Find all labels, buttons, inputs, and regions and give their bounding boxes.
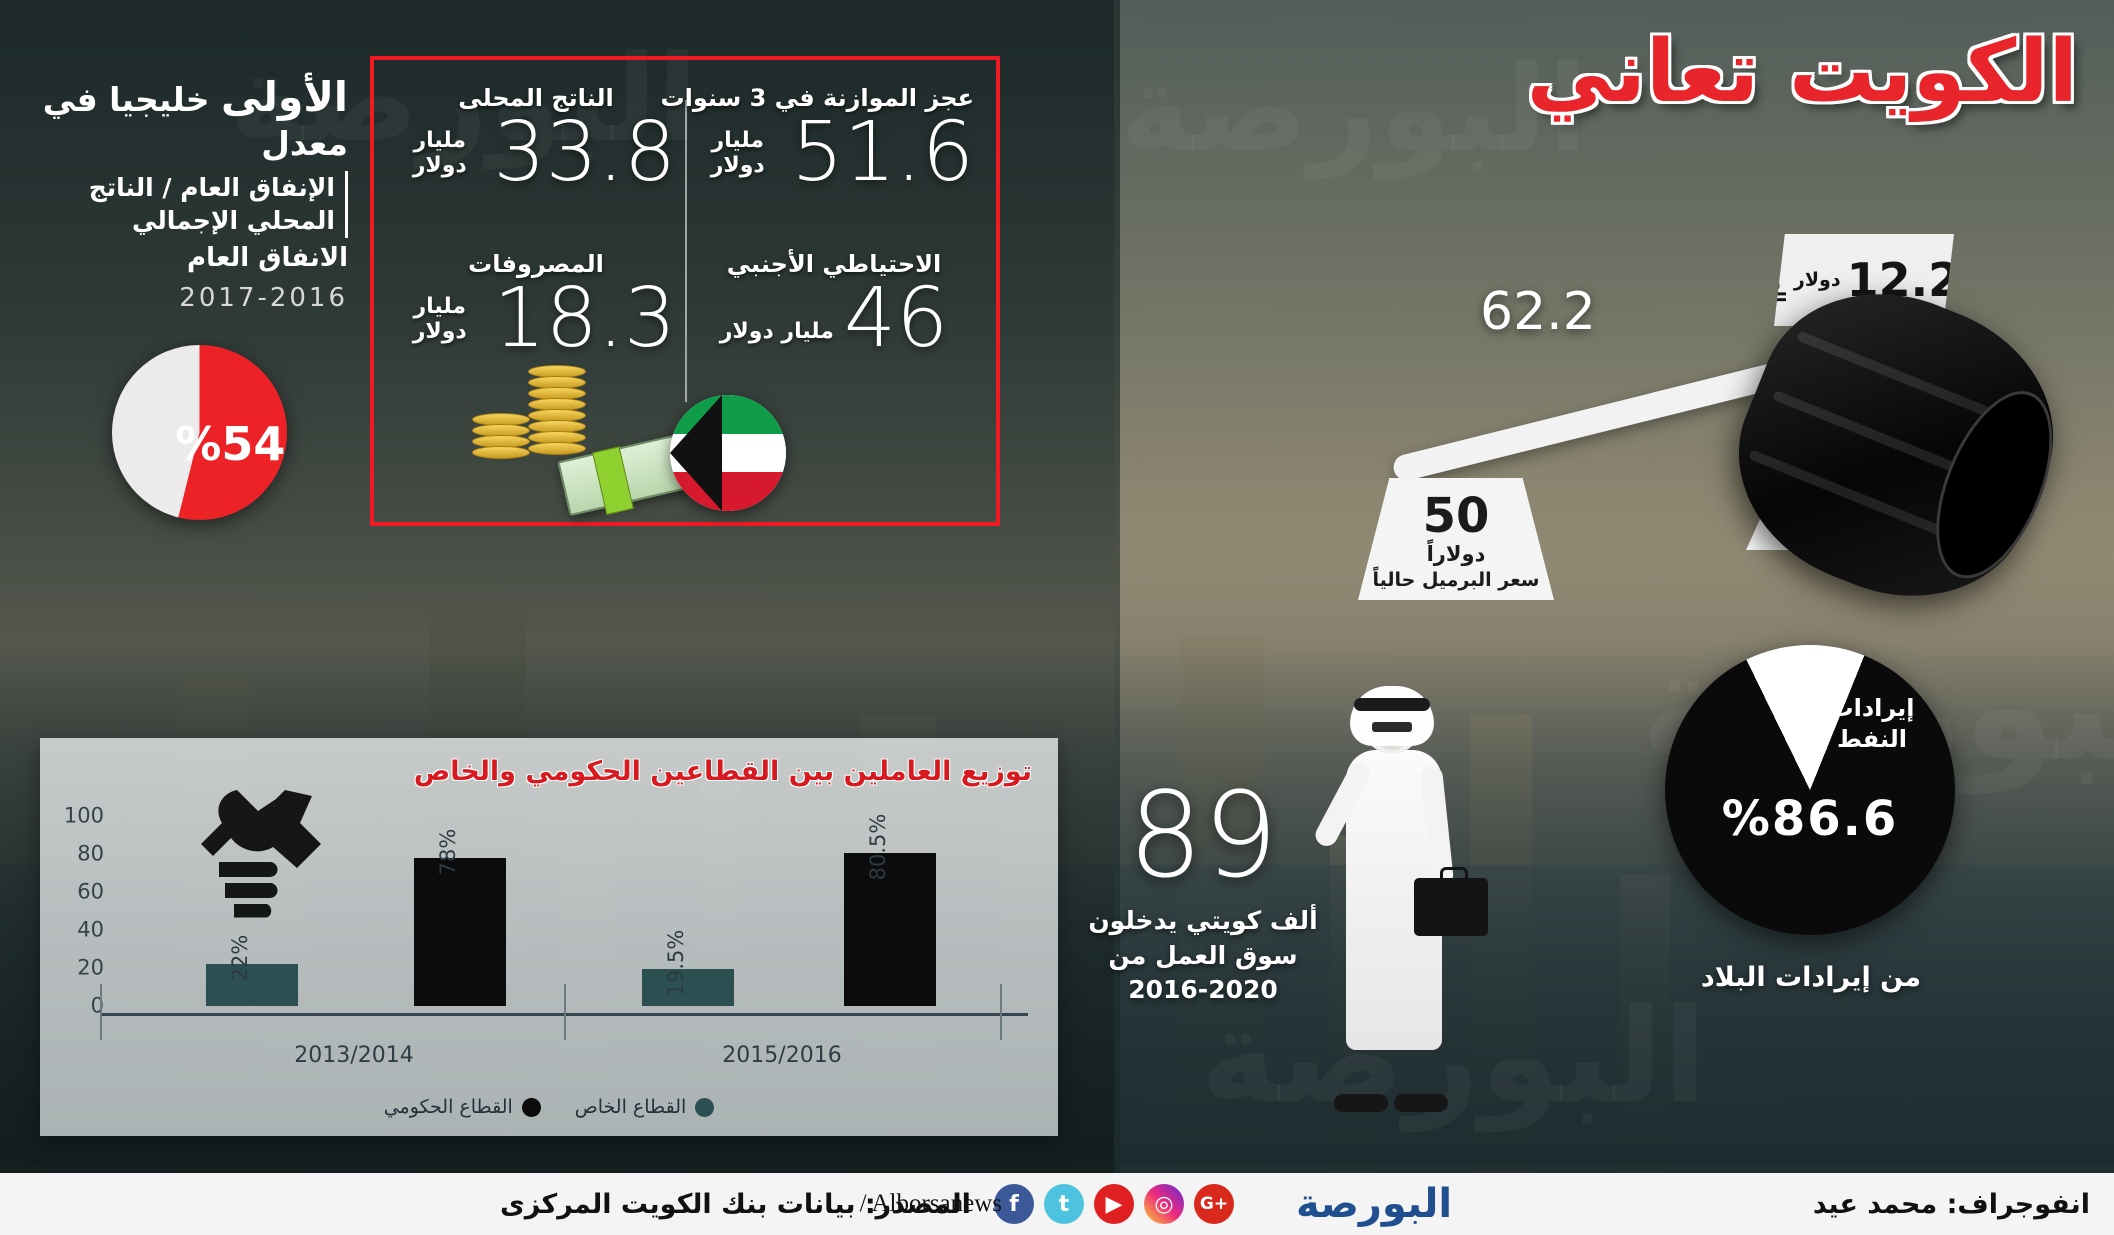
legend-label: القطاع الحكومي xyxy=(384,1096,513,1118)
shoe-right-icon xyxy=(1394,1094,1448,1112)
x-category-label: 2015/2016 xyxy=(722,1043,841,1068)
stat-budget-deficit: عجز الموازنة في 3 سنوات 51.6 مليار دولار xyxy=(694,84,974,192)
stat-value: 46 xyxy=(844,280,948,358)
stat-gdp: الناتج المحلى 33.8 مليار دولار xyxy=(396,84,676,192)
bar-private-2013: 22% xyxy=(206,964,298,1006)
social-links: f t ▶ ◎ G+ xyxy=(994,1184,1234,1224)
x-category-label: 2013/2014 xyxy=(294,1043,413,1068)
coin-icon xyxy=(528,442,586,455)
googleplus-icon[interactable]: G+ xyxy=(1194,1184,1234,1224)
businessman-illustration xyxy=(1310,692,1490,1112)
stat-expenses: المصروفات 18.3 مليار دولار xyxy=(396,250,676,358)
public-spending-pie-chart: %54 xyxy=(112,345,287,520)
kuwait-flag-icon xyxy=(670,395,786,511)
flag-black-trapezoid xyxy=(670,395,722,511)
shoe-left-icon xyxy=(1334,1094,1388,1112)
stat-unit: مليار دولار xyxy=(694,128,781,192)
gulf-first-line2: الإنفاق العام / الناتج المحلي الإجمالي xyxy=(18,171,348,239)
youtube-icon[interactable]: ▶ xyxy=(1094,1184,1134,1224)
current-oil-price-weight: 50 دولاراً سعر البرميل حالياً xyxy=(1358,478,1554,600)
stat-value: 33.8 xyxy=(493,114,676,192)
public-spending-period: 2017-2016 xyxy=(18,283,348,313)
instagram-icon[interactable]: ◎ xyxy=(1144,1184,1184,1224)
oil-revenue-pie-value: %86.6 xyxy=(1722,791,1899,847)
x-axis-tick xyxy=(100,984,102,1040)
public-spending-pie-value: %54 xyxy=(175,416,285,470)
stat-unit: مليار دولار xyxy=(720,319,834,358)
y-tick: 80 xyxy=(77,842,104,866)
stat-value: 51.6 xyxy=(791,114,974,192)
footer-bar: انفوجراف: محمد عيد البورصة f t ▶ ◎ G+ / … xyxy=(0,1173,2114,1235)
oil-revenue-pie-chart: إيرادات النفط %86.6 xyxy=(1665,645,1955,935)
gulf-first-emphasis: الأولى xyxy=(221,73,348,121)
bar-value-label: 19.5% xyxy=(664,930,688,997)
page-title: الكويت تعاني xyxy=(1527,22,2078,122)
bar-private-2015: 19.5% xyxy=(642,969,734,1006)
y-tick: 60 xyxy=(77,880,104,904)
alborsa-logo[interactable]: البورصة xyxy=(1274,1175,1474,1233)
briefcase-icon xyxy=(1414,878,1488,936)
legend-item-government: القطاع الحكومي xyxy=(384,1096,541,1118)
new-jobs-number: 89 xyxy=(1078,782,1328,888)
gulf-first-block: الأولى خليجيا في معدل الإنفاق العام / ال… xyxy=(18,72,348,238)
breakeven-price-value: 62.2 xyxy=(1480,282,1596,342)
legend-swatch-private xyxy=(695,1098,714,1117)
y-tick: 40 xyxy=(77,918,104,942)
public-spending-block: الانفاق العام 2017-2016 xyxy=(18,243,348,313)
coin-icon xyxy=(472,446,530,459)
infographic-canvas: البورصة البورصة البورصة البورصة الكويت ت… xyxy=(0,0,2114,1235)
stat-value: 18.3 xyxy=(493,280,676,358)
bar-government-2015: 80.5% xyxy=(844,853,936,1006)
oil-revenue-caption: من إيرادات البلاد xyxy=(1646,962,1976,993)
stat-foreign-reserve: الاحتياطي الأجنبي 46 مليار دولار xyxy=(694,250,974,358)
twitter-icon[interactable]: t xyxy=(1044,1184,1084,1224)
chart-title: توزيع العاملين بين القطاعين الحكومي والخ… xyxy=(414,756,1032,787)
x-axis-tick xyxy=(1000,984,1002,1040)
oil-price-value: 50 xyxy=(1358,492,1554,540)
oil-price-unit: دولاراً xyxy=(1358,542,1554,566)
x-axis-tick xyxy=(564,984,566,1040)
agal-band-icon xyxy=(1354,698,1430,711)
new-jobs-description: ألف كويتي يدخلون سوق العمل من 2020-2016 xyxy=(1078,904,1328,1008)
oil-price-caption: سعر البرميل حالياً xyxy=(1358,569,1554,591)
sunglasses-icon xyxy=(1372,722,1412,732)
infographic-credit: انفوجراف: محمد عيد xyxy=(1813,1189,2090,1220)
stat-unit: مليار دولار xyxy=(396,128,483,192)
bar-government-2013: 78% xyxy=(414,858,506,1006)
data-source: المصدر: بيانات بنك الكويت المركزى xyxy=(500,1189,971,1220)
bar-value-label: 78% xyxy=(436,828,460,875)
y-tick: 100 xyxy=(64,804,104,828)
new-jobs-block: 89 ألف كويتي يدخلون سوق العمل من 2020-20… xyxy=(1078,782,1328,1008)
alborsa-logo-text: البورصة xyxy=(1296,1181,1452,1227)
chart-legend: القطاع الخاص القطاع الحكومي xyxy=(40,1096,1058,1118)
legend-item-private: القطاع الخاص xyxy=(575,1096,715,1118)
gulf-first-line1: الأولى خليجيا في معدل xyxy=(18,72,348,165)
deficit-rotated-label: العجز xyxy=(1768,258,1788,303)
employment-chart-panel: توزيع العاملين بين القطاعين الحكومي والخ… xyxy=(40,738,1058,1136)
stat-unit: مليار دولار xyxy=(396,294,483,358)
oil-revenue-pie-label: إيرادات النفط xyxy=(1817,693,1927,755)
money-illustration xyxy=(520,355,780,515)
y-tick: 20 xyxy=(77,956,104,980)
chart-plot-area: 100 80 60 40 20 0 22% 78% 19.5% 80.5% 20… xyxy=(114,816,1014,1006)
bar-value-label: 80.5% xyxy=(866,814,890,881)
ghutra-headscarf-icon xyxy=(1350,686,1434,746)
legend-swatch-government xyxy=(522,1098,541,1117)
public-spending-label: الانفاق العام xyxy=(18,243,348,273)
bar-value-label: 22% xyxy=(228,935,252,982)
legend-label: القطاع الخاص xyxy=(575,1096,687,1118)
